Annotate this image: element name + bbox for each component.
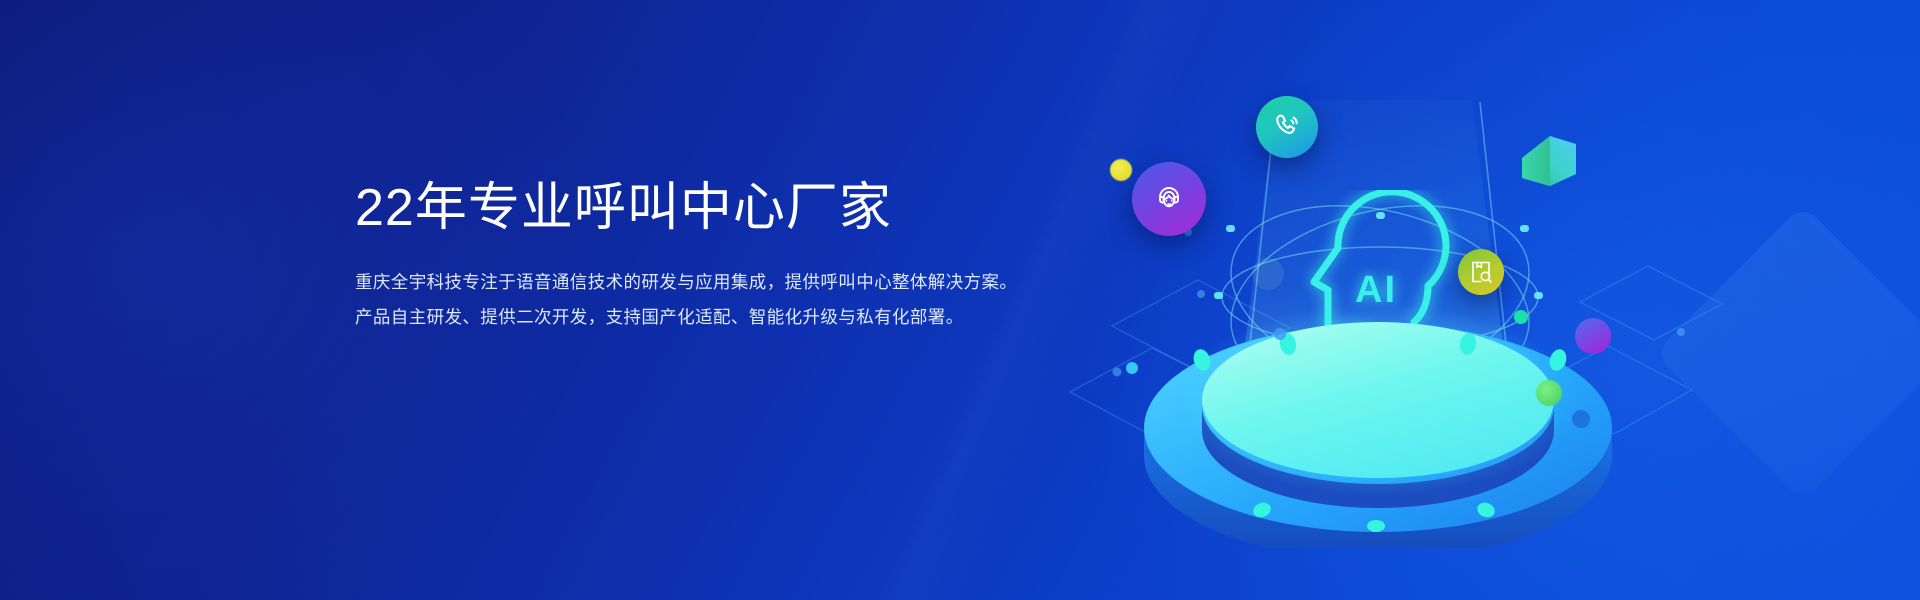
teal-dot xyxy=(1514,310,1528,324)
green-card-shape xyxy=(1516,128,1582,194)
headset-operator-icon xyxy=(1149,179,1189,219)
blue-dot xyxy=(1572,410,1590,428)
cyan-dot xyxy=(1126,362,1138,374)
document-search-badge[interactable] xyxy=(1458,249,1504,295)
hero-headline: 22年专业呼叫中心厂家 xyxy=(355,178,1055,239)
green-dot xyxy=(1536,380,1562,406)
hero-subcopy: 重庆全宇科技专注于语音通信技术的研发与应用集成，提供呼叫中心整体解决方案。产品自… xyxy=(355,265,1020,335)
yellow-dot xyxy=(1110,159,1132,181)
phone-call-icon xyxy=(1270,110,1304,144)
purple-dot xyxy=(1575,318,1611,354)
agent-headset-badge[interactable] xyxy=(1132,162,1206,236)
phone-call-badge[interactable] xyxy=(1256,96,1318,158)
hologram-podium xyxy=(1138,288,1618,548)
hero-illustration: AI xyxy=(1060,40,1780,560)
hero-copy: 22年专业呼叫中心厂家 重庆全宇科技专注于语音通信技术的研发与应用集成，提供呼叫… xyxy=(355,178,1055,335)
hero-banner: 22年专业呼叫中心厂家 重庆全宇科技专注于语音通信技术的研发与应用集成，提供呼叫… xyxy=(0,0,1920,600)
light-blue-dot xyxy=(1274,328,1286,340)
document-search-icon xyxy=(1468,259,1494,285)
